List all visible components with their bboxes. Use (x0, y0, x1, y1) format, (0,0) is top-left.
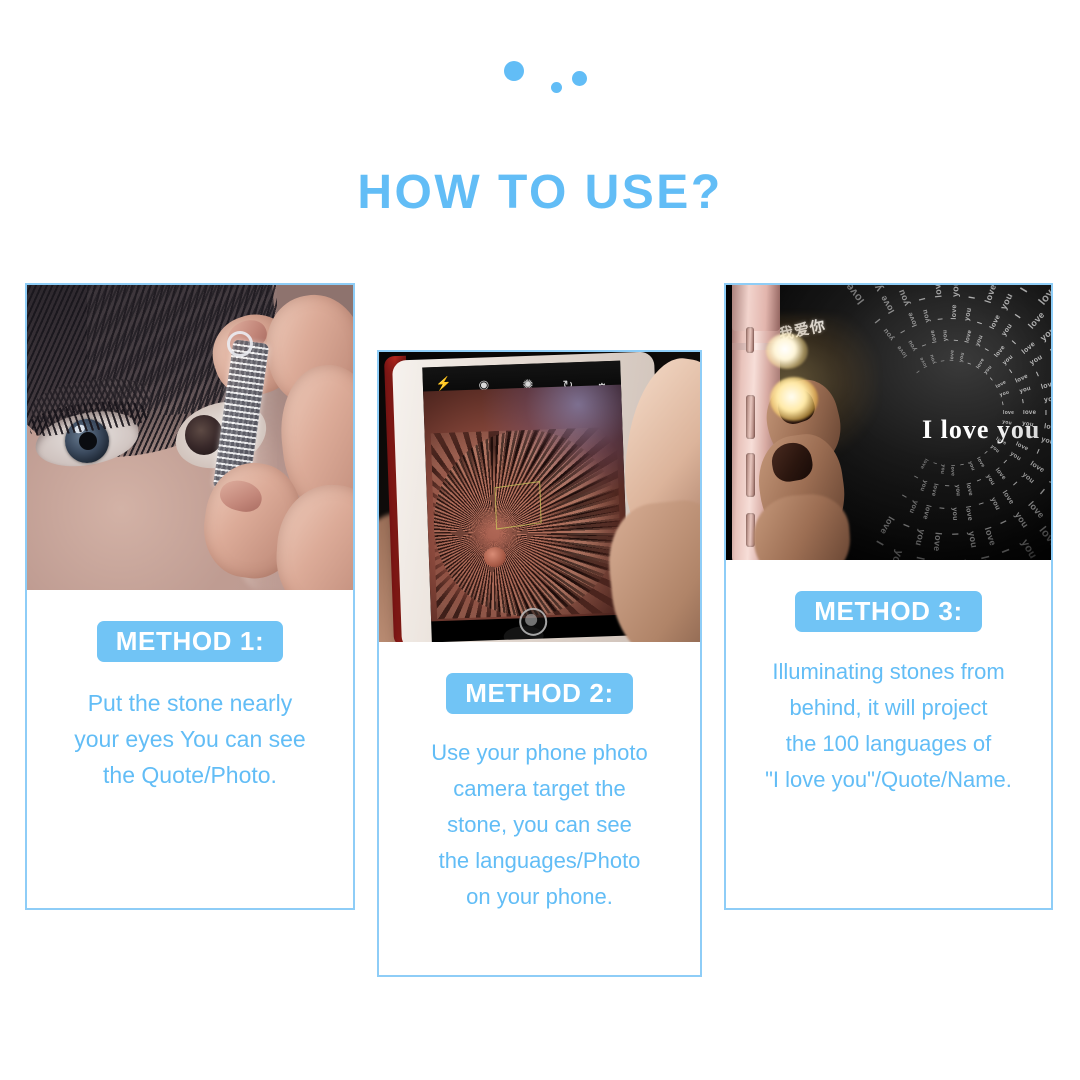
photo3-projected-word: love (932, 285, 944, 298)
photo3-projected-word: love (896, 344, 909, 358)
photo3-projected-word: I (1009, 369, 1014, 375)
photo3-projected-word: I (1035, 371, 1040, 378)
photo3-projected-word: you (918, 479, 928, 492)
method-1-badge: METHOD 1: (97, 621, 283, 662)
photo3-projected-word: I (958, 463, 964, 466)
photo3-projected-word: you (907, 339, 918, 352)
photo3-projected-word: love (1026, 310, 1046, 331)
photo3-projected-word: love (989, 314, 1002, 331)
photo3-projected-word: you (929, 353, 938, 364)
method-1-photo (27, 285, 353, 590)
photo3-projected-word: you (967, 460, 976, 471)
photo3-projected-word: I (922, 343, 928, 347)
photo3-projected-word: love (1001, 489, 1015, 506)
photo3-projected-word: I (1002, 460, 1008, 466)
photo3-projected-word: love (964, 505, 974, 521)
photo3-projected-word: love (975, 456, 986, 469)
photo3-projected-word: you (964, 307, 973, 321)
photo3-projected-word: love (878, 294, 896, 316)
decor-dot-medium (572, 71, 587, 86)
photo3-projected-word: you (1048, 473, 1051, 490)
photo3-projected-word: you (985, 474, 996, 487)
method-card-1: METHOD 1: Put the stone nearly your eyes… (25, 283, 355, 910)
photo3-projected-word: you (1009, 451, 1022, 462)
photo3-projected-word: love (983, 526, 998, 547)
photo3-projected-word: love (919, 356, 930, 369)
photo3-projected-word: you (942, 329, 949, 341)
photo3-projected-word: love (1029, 460, 1046, 474)
photo3-projected-word: you (989, 496, 1001, 511)
photo2-phone-screen: ⚡ ◉ ✺ ↻ ⚙ (422, 361, 629, 642)
method-card-3: IloveyouIloveyouIloveyouIloveyouIloveyou… (724, 283, 1053, 910)
photo3-projected-word: you (908, 499, 919, 514)
photo3-projected-word: I (937, 317, 944, 320)
method-1-description: Put the stone nearly your eyes You can s… (27, 662, 353, 793)
photo3-projected-word: love (1040, 380, 1051, 391)
photo3-projected-word: you (950, 285, 961, 297)
photo3-projected-word: love (1044, 423, 1051, 432)
photo3-projected-word: love (930, 483, 939, 497)
photo3-projected-word: you (958, 352, 966, 363)
photo3-projected-word: I (1035, 449, 1040, 456)
decor-dot-small (551, 82, 562, 93)
photo3-projected-word: love (1015, 373, 1030, 384)
photo2-focus-rectangle (495, 481, 542, 530)
photo3-projected-word: love (930, 329, 939, 343)
photo3-projected-word: I (999, 548, 1011, 556)
photo3-projected-word: love (949, 350, 955, 361)
method-2-body: METHOD 2: Use your phone photo camera ta… (379, 642, 700, 915)
photo3-projected-word: you (939, 464, 946, 475)
photo3-projected-word: love (965, 329, 974, 343)
photo3-projected-word: you (975, 334, 985, 347)
photo3-projected-word: you (954, 485, 961, 497)
photo3-projected-word: I (1002, 401, 1005, 407)
photo3-projected-word: I (975, 479, 981, 483)
photo3-projected-word: you (989, 444, 1000, 455)
photo3-projected-word: you (1038, 324, 1051, 343)
photo3-projected-word: I (950, 533, 960, 536)
photo3-projected-word: you (1018, 537, 1039, 560)
photo3-projected-word: I (901, 523, 911, 529)
method-1-body: METHOD 1: Put the stone nearly your eyes… (27, 590, 353, 793)
method-2-photo: ⚡ ◉ ✺ ↻ ⚙ (379, 352, 700, 642)
photo3-projected-word: love (994, 345, 1007, 359)
photo3-i-love-you-text: I love you (922, 415, 1040, 445)
photo3-projected-word: I (900, 493, 907, 498)
photo3-projected-word: you (998, 292, 1014, 312)
photo3-light-spot-2 (770, 377, 818, 421)
photo3-projected-word: I (931, 461, 937, 465)
photo3-projected-word: love (994, 467, 1007, 481)
photo3-projected-word: you (1001, 323, 1014, 338)
photo3-projected-word: I (912, 474, 918, 479)
photo3-phone-button-1 (746, 327, 754, 353)
photo3-projected-word: love (1037, 285, 1051, 308)
photo3-projected-word: you (1013, 510, 1031, 530)
photo3-projected-word: you (896, 288, 912, 307)
photo3-projected-word: I (967, 362, 973, 366)
photo3-light-spot-1 (766, 333, 808, 369)
photo3-projected-word: I (1011, 481, 1018, 487)
photo3-projected-word: you (1040, 436, 1051, 446)
photo1-pupil (79, 432, 97, 450)
photo3-phone-top (732, 285, 780, 331)
photo3-projected-word: I (943, 485, 949, 487)
photo3-projected-word: I (937, 507, 944, 510)
photo3-projected-word: I (989, 377, 994, 383)
photo3-projected-word: I (985, 348, 991, 353)
photo3-projected-word: you (882, 327, 896, 342)
method-card-2: ⚡ ◉ ✺ ↻ ⚙ METHOD 2: Use your phone photo… (377, 350, 702, 977)
photo3-projected-word: love (983, 285, 998, 304)
photo3-projected-word: you (951, 507, 958, 521)
photo3-projected-word: you (922, 308, 932, 323)
photo3-projected-word: love (921, 504, 931, 520)
photo3-projected-word: I (1038, 487, 1047, 496)
photo3-projected-word: you (865, 285, 886, 294)
method-2-description: Use your phone photo camera target the s… (379, 714, 700, 915)
flash-off-icon: ⚡ (435, 376, 453, 391)
photo3-projected-word: I (1048, 347, 1051, 357)
photo3-projected-word: I (1013, 312, 1023, 320)
photo3-projected-word: I (954, 339, 960, 341)
method-2-badge: METHOD 2: (446, 673, 632, 714)
photo3-projected-word: I (940, 359, 946, 362)
photo3-projected-word: you (967, 530, 980, 548)
decorative-dots-group (0, 0, 1080, 140)
photo3-projected-word: love (932, 532, 944, 552)
photo3-projected-word: I (1022, 399, 1025, 405)
photo1-pendant-ring (227, 331, 253, 357)
photo3-phone-button-3 (746, 453, 755, 497)
photo3-projected-word: I (1018, 286, 1030, 295)
photo3-projected-word: I (977, 502, 984, 506)
photo3-projected-word: love (843, 285, 867, 306)
photo3-phone-button-2 (746, 395, 755, 439)
photo2-viewfinder (423, 385, 629, 622)
method-3-badge: METHOD 3: (795, 591, 981, 632)
photo3-projected-word: you (1019, 386, 1032, 395)
page-title: HOW TO USE? (0, 163, 1080, 223)
photo3-projected-word: you (1029, 354, 1044, 367)
photo3-projected-word: you (1002, 354, 1015, 366)
photo3-projected-word: I (977, 321, 984, 325)
photo3-projected-word: love (965, 482, 974, 496)
photo3-projected-word: you (1021, 471, 1036, 485)
method-3-body: METHOD 3: Illuminating stones from behin… (726, 560, 1051, 798)
photo3-projected-word: I (983, 450, 989, 455)
photo3-projected-word: love (949, 465, 955, 476)
photo3-projected-word: love (1037, 524, 1051, 550)
decor-dot-large (504, 61, 524, 81)
photo3-projected-word: you (1044, 395, 1051, 404)
photo3-projected-word: love (1021, 341, 1037, 356)
photo3-projected-word: I (1045, 410, 1047, 417)
photo3-projected-word: love (1026, 499, 1046, 520)
photo3-projected-word: love (878, 515, 896, 537)
photo3-projected-word: love (907, 311, 919, 328)
photo3-projected-word: I (1011, 340, 1018, 346)
photo3-projected-word: I (900, 328, 907, 333)
photo3-projected-word: you (887, 548, 906, 560)
method-3-description: Illuminating stones from behind, it will… (726, 632, 1051, 798)
photo3-projected-word: I (998, 519, 1008, 526)
photo3-projected-word: you (999, 389, 1010, 398)
photo3-projected-word: I (873, 538, 885, 547)
photo3-projected-word: love (995, 379, 1008, 390)
photo3-projected-word: love (919, 457, 930, 470)
photo3-projected-word: you (914, 528, 928, 547)
photo3-projected-word: you (983, 364, 994, 375)
photo3-projected-word: I (917, 297, 927, 302)
photo3-projected-word: love (951, 304, 959, 319)
method-3-photo: IloveyouIloveyouIloveyouIloveyouIloveyou… (726, 285, 1051, 560)
photo3-projected-word: I (967, 295, 977, 300)
photo3-projected-word: I (916, 369, 922, 374)
